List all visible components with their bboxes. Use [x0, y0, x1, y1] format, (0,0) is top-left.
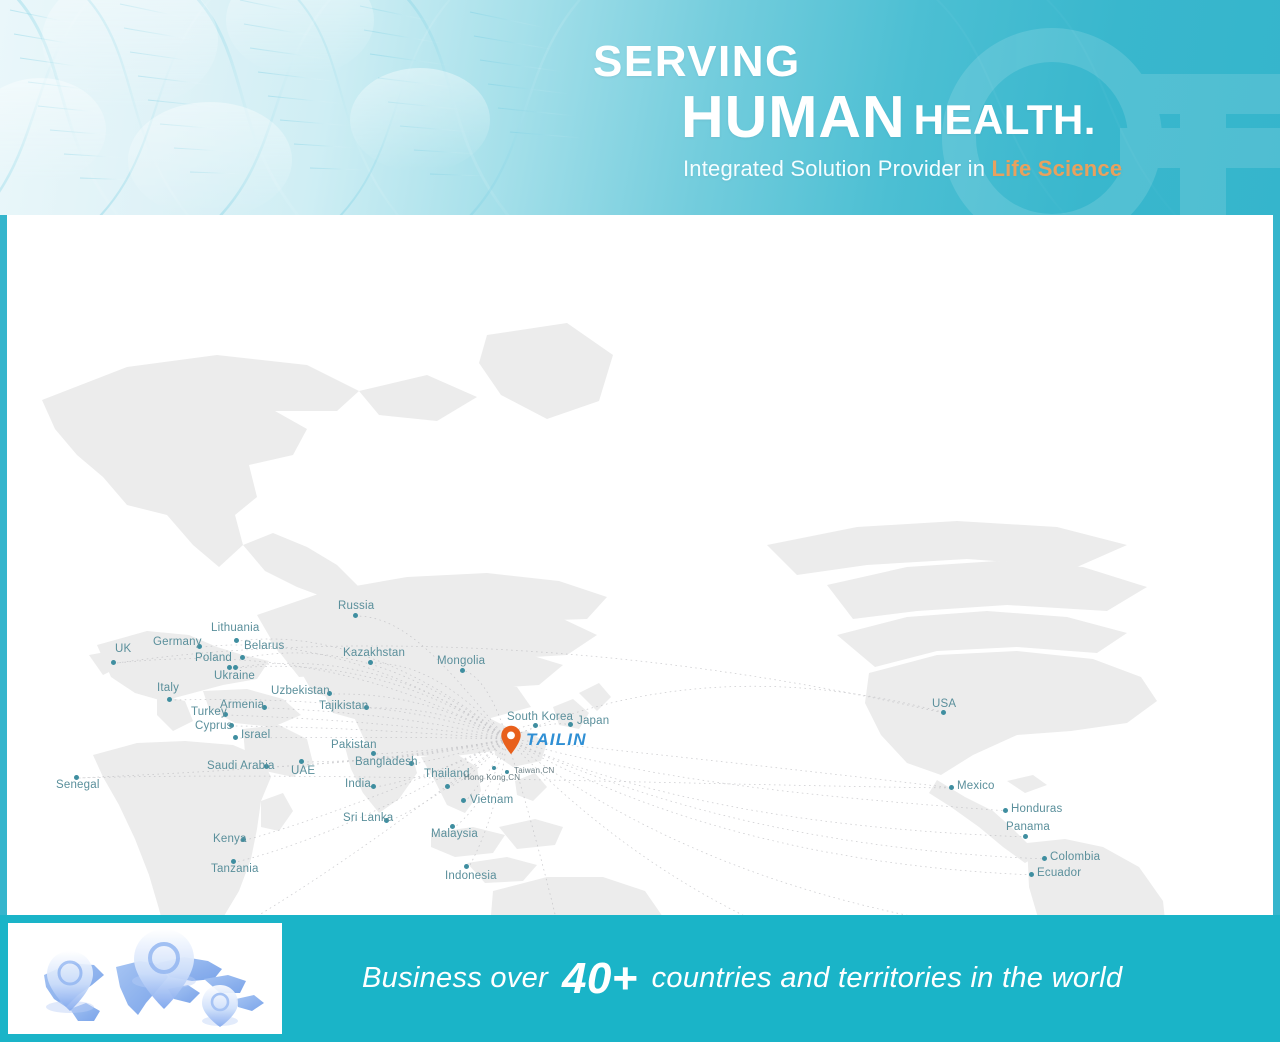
map-dot-russia[interactable] [353, 613, 358, 618]
footer-thumbnail [8, 923, 282, 1034]
footer-text-prefix: Business over [362, 962, 548, 995]
world-map-pins-thumbnail-icon [8, 923, 282, 1034]
map-label-hong-kong-cn: Hong Kong,CN [464, 773, 520, 782]
map-label-israel: Israel [241, 729, 270, 741]
header-banner: SERVING HUMANHEALTH. Integrated Solution… [0, 0, 1280, 215]
map-dot-lithuania[interactable] [234, 638, 239, 643]
footer-statement: Business over 40+ countries and territor… [362, 915, 1122, 1042]
map-label-poland: Poland [195, 652, 232, 664]
map-label-malaysia: Malaysia [431, 828, 478, 840]
map-dot-italy[interactable] [167, 697, 172, 702]
map-label-ecuador: Ecuador [1037, 867, 1081, 879]
map-label-thailand: Thailand [424, 768, 470, 780]
footer-country-count: 40+ [562, 957, 638, 1001]
map-label-kazakhstan: Kazakhstan [343, 647, 405, 659]
map-label-colombia: Colombia [1050, 851, 1100, 863]
map-label-russia: Russia [338, 600, 374, 612]
map-label-uae: UAE [291, 765, 315, 777]
map-dot-thailand[interactable] [445, 784, 450, 789]
map-dot-belarus[interactable] [240, 655, 245, 660]
map-label-bangladesh: Bangladesh [355, 756, 418, 768]
map-label-belarus: Belarus [244, 640, 284, 652]
tailin-brand-marker[interactable]: TAILIN [500, 725, 587, 755]
map-dot-israel[interactable] [233, 735, 238, 740]
location-pin-icon [500, 725, 522, 755]
tagline-prefix: Integrated Solution Provider in [683, 156, 991, 181]
poster-root: SERVING HUMANHEALTH. Integrated Solution… [0, 0, 1280, 1042]
map-dot-panama[interactable] [1023, 834, 1028, 839]
map-label-india: India [345, 778, 371, 790]
map-dot-vietnam[interactable] [461, 798, 466, 803]
map-dot-mexico[interactable] [949, 785, 954, 790]
world-map-panel: UKGermanyLithuaniaBelarusPolandUkraineRu… [0, 215, 1280, 915]
map-label-senegal: Senegal [56, 779, 100, 791]
map-label-italy: Italy [157, 682, 179, 694]
map-label-uzbekistan: Uzbekistan [271, 685, 330, 697]
map-label-kenya: Kenya [213, 833, 247, 845]
map-label-panama: Panama [1006, 821, 1050, 833]
map-label-indonesia: Indonesia [445, 870, 497, 882]
map-dot-mongolia[interactable] [460, 668, 465, 673]
map-dot-uae[interactable] [299, 759, 304, 764]
map-label-tanzania: Tanzania [211, 863, 259, 875]
tailin-brand-label: TAILIN [526, 730, 587, 750]
map-dot-pakistan[interactable] [371, 751, 376, 756]
tagline-highlight: Life Science [991, 156, 1122, 181]
map-label-honduras: Honduras [1011, 803, 1062, 815]
map-label-ukraine: Ukraine [214, 670, 255, 682]
map-dot-ecuador[interactable] [1029, 872, 1034, 877]
header-word-health: HEALTH. [914, 96, 1096, 143]
map-dot-poland[interactable] [227, 665, 232, 670]
header-line-serving: SERVING [593, 40, 801, 84]
map-label-tajikistan: Tajikistan [319, 700, 368, 712]
header-line-human-health: HUMANHEALTH. [681, 88, 1096, 147]
trade-route-arcs [7, 215, 1273, 915]
map-label-sri-lanka: Sri Lanka [343, 812, 393, 824]
footer-banner: Business over 40+ countries and territor… [0, 915, 1280, 1042]
map-label-cyprus: Cyprus [195, 720, 233, 732]
map-label-mongolia: Mongolia [437, 655, 485, 667]
header-word-human: HUMAN [681, 84, 906, 150]
map-label-uk: UK [115, 643, 131, 655]
map-dot-honduras[interactable] [1003, 808, 1008, 813]
map-label-turkey: Turkey [191, 706, 227, 718]
map-label-usa: USA [932, 698, 956, 710]
map-dot-colombia[interactable] [1042, 856, 1047, 861]
map-dot-india[interactable] [371, 784, 376, 789]
map-dot-hong-kong-cn[interactable] [492, 766, 496, 770]
map-dot-usa[interactable] [941, 710, 946, 715]
header-text-block: SERVING HUMANHEALTH. Integrated Solution… [0, 0, 1280, 215]
map-stage: UKGermanyLithuaniaBelarusPolandUkraineRu… [7, 215, 1273, 915]
map-label-vietnam: Vietnam [470, 794, 513, 806]
footer-text-suffix: countries and territories in the world [652, 962, 1123, 995]
map-label-south-korea: South Korea [507, 711, 573, 723]
map-dot-uk[interactable] [111, 660, 116, 665]
map-label-mexico: Mexico [957, 780, 995, 792]
map-label-germany: Germany [153, 636, 202, 648]
map-label-saudi-arabia: Saudi Arabia [207, 760, 275, 772]
map-dot-ukraine[interactable] [233, 665, 238, 670]
header-tagline: Integrated Solution Provider in Life Sci… [683, 156, 1122, 182]
map-label-lithuania: Lithuania [211, 622, 259, 634]
map-label-pakistan: Pakistan [331, 739, 377, 751]
map-dot-indonesia[interactable] [464, 864, 469, 869]
map-dot-kazakhstan[interactable] [368, 660, 373, 665]
